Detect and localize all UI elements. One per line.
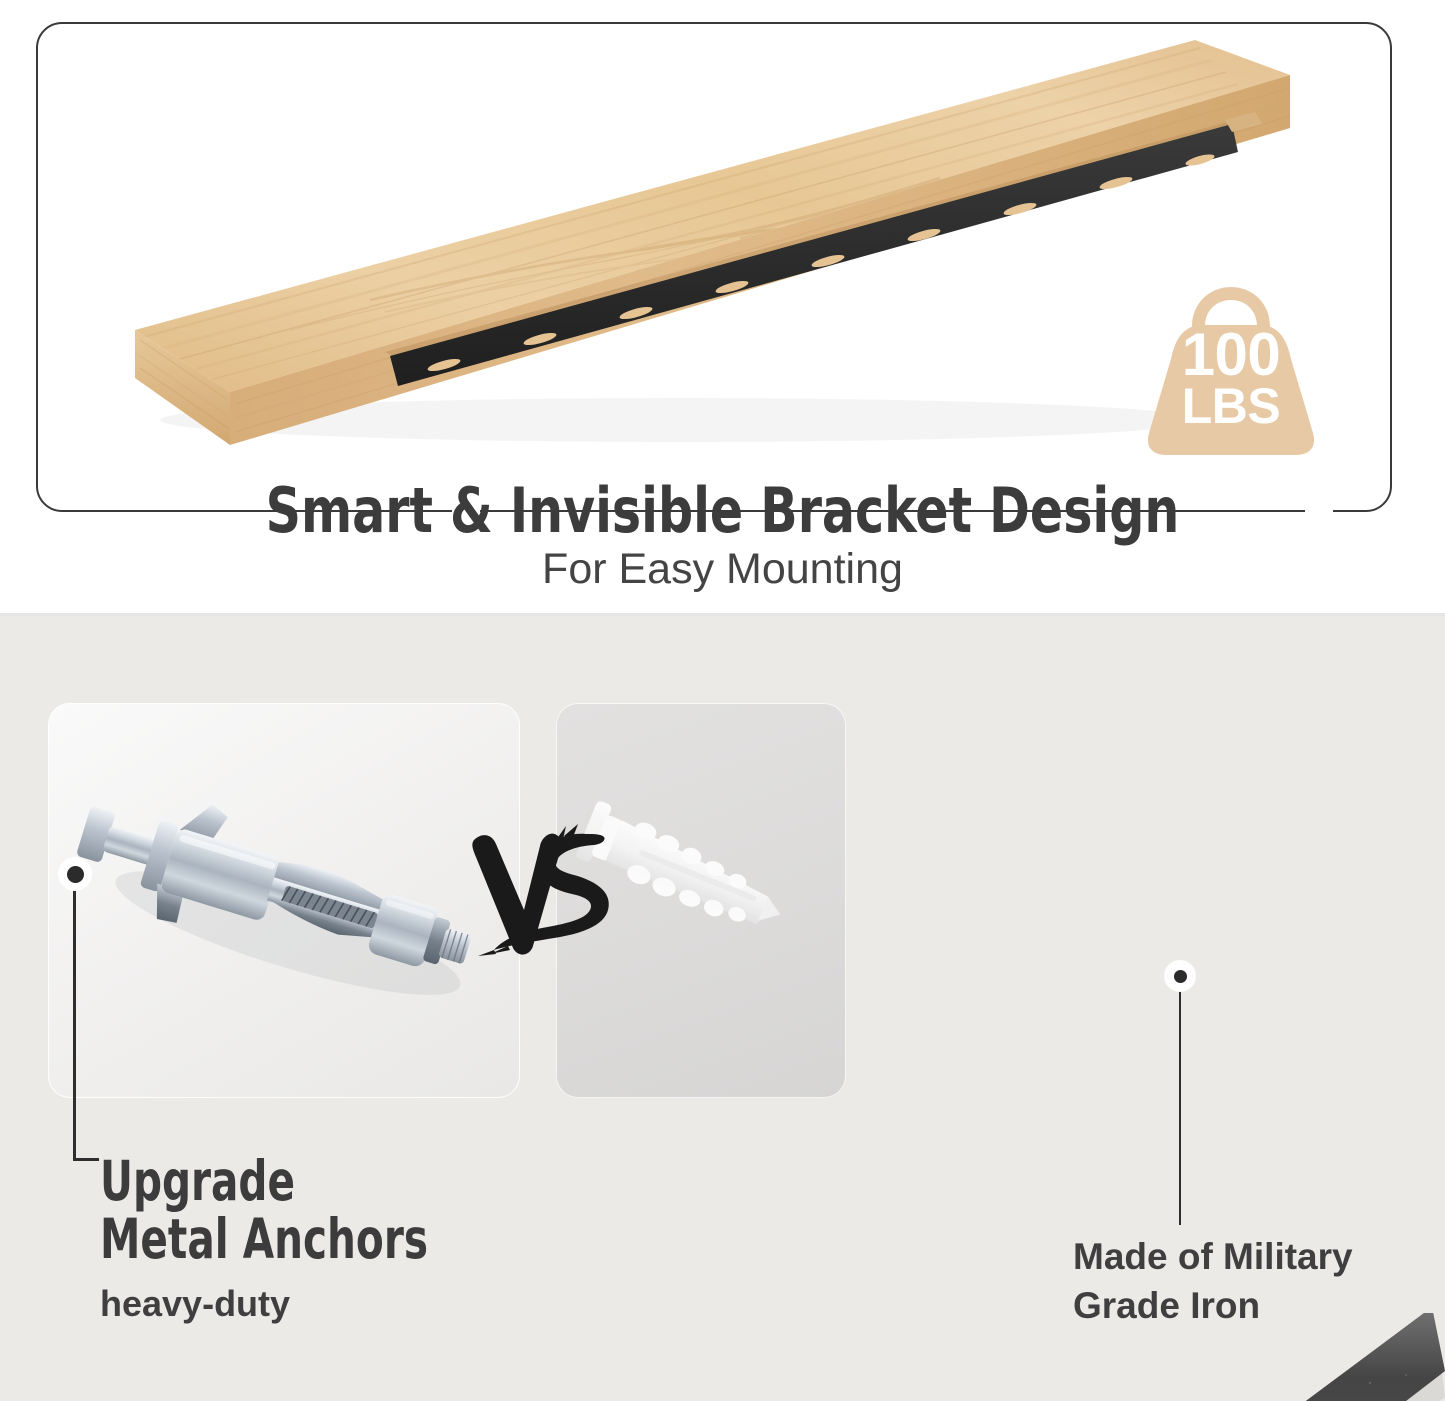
- callout-line-iron-vertical: [1179, 976, 1181, 1225]
- iron-rod-headline-line1: Made of Military: [1073, 1232, 1445, 1281]
- metal-anchor-headline-line2: Metal Anchors: [100, 1210, 559, 1268]
- callout-marker-metal-anchor: [58, 857, 92, 891]
- bottom-section: Upgrade Metal Anchors heavy-duty Made of…: [0, 613, 1445, 1401]
- metal-anchor-card: [48, 703, 520, 1098]
- callout-marker-iron-rod: [1164, 960, 1196, 992]
- steel-hollow-wall-anchor-photo: [48, 703, 520, 1098]
- infographic-page: 100 LBS Smart & Invisible Bracket Design…: [0, 0, 1445, 1401]
- page-title: Smart & Invisible Bracket Design: [87, 474, 1359, 547]
- weight-kettlebell-icon: [1131, 283, 1331, 458]
- metal-anchor-callout-text: Upgrade Metal Anchors heavy-duty: [100, 1152, 660, 1325]
- iron-rod-callout-text: Made of Military Grade Iron: [1073, 1232, 1445, 1330]
- weight-capacity-badge: 100 LBS: [1131, 283, 1331, 458]
- callout-line-metal-vertical: [73, 874, 76, 1161]
- metal-anchor-caption: heavy-duty: [100, 1283, 660, 1325]
- page-subtitle: For Easy Mounting: [0, 545, 1445, 594]
- vs-brush-icon: [468, 818, 623, 968]
- versus-mark: [468, 818, 623, 968]
- top-section: 100 LBS Smart & Invisible Bracket Design…: [0, 0, 1445, 613]
- callout-line-metal-horizontal: [73, 1158, 99, 1161]
- metal-anchor-headline-line1: Upgrade: [100, 1152, 559, 1210]
- iron-rod-headline-line2: Grade Iron: [1073, 1281, 1445, 1330]
